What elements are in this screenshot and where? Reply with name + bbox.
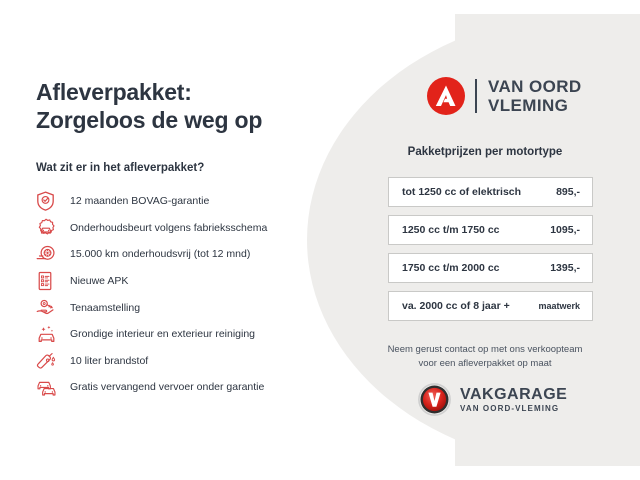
table-row: va. 2000 cc of 8 jaar + maatwerk (388, 291, 593, 321)
price-row-label: 1750 cc t/m 2000 cc (402, 262, 500, 274)
price-row-value: 1095,- (550, 224, 580, 236)
list-item: 15.000 km onderhoudsvrij (tot 12 mnd) (36, 241, 331, 268)
logo-divider (475, 79, 477, 113)
left-column: Afleverpakket: Zorgeloos de weg op Wat z… (0, 0, 330, 480)
list-item-label: Grondige interieur en exterieur reinigin… (62, 328, 255, 340)
price-row-value: 1395,- (550, 262, 580, 274)
list-item: 10 liter brandstof (36, 348, 331, 375)
company-logo: VAN OORD VLEMING (426, 76, 582, 116)
hand-key-icon (36, 297, 62, 319)
list-item: Nieuwe APK (36, 268, 331, 295)
price-row-label: tot 1250 cc of elektrisch (402, 186, 521, 198)
price-row-label: va. 2000 cc of 8 jaar + (402, 300, 510, 312)
feature-list: 12 maanden BOVAG-garantie Onderhoudsbeur… (36, 188, 331, 401)
list-item-label: 15.000 km onderhoudsvrij (tot 12 mnd) (62, 248, 250, 260)
section-subtitle: Wat zit er in het afleverpakket? (36, 162, 204, 174)
list-item: Tenaamstelling (36, 294, 331, 321)
two-cars-icon (36, 376, 62, 398)
shield-check-icon (36, 190, 62, 212)
list-item-label: 12 maanden BOVAG-garantie (62, 195, 209, 207)
list-item: Onderhoudsbeurt volgens fabrieksschema (36, 215, 331, 242)
infographic-canvas: Afleverpakket: Zorgeloos de weg op Wat z… (0, 0, 640, 480)
price-row-value: 895,- (556, 186, 580, 198)
contact-note: Neem gerust contact op met ons verkoopte… (330, 343, 640, 371)
price-row-value: maatwerk (538, 301, 580, 311)
contact-note-line2: voor een afleverpakket op maat (330, 357, 640, 371)
page-title: Afleverpakket: Zorgeloos de weg op (36, 78, 326, 134)
car-service-gear-icon (36, 217, 62, 239)
list-item-label: Gratis vervangend vervoer onder garantie (62, 381, 264, 393)
prices-title: Pakketprijzen per motortype (330, 146, 640, 158)
page-title-line2: Zorgeloos de weg op (36, 106, 326, 134)
table-row: 1250 cc t/m 1750 cc 1095,- (388, 215, 593, 245)
list-item-label: Onderhoudsbeurt volgens fabrieksschema (62, 222, 267, 234)
list-item-label: Tenaamstelling (62, 302, 140, 314)
price-table: tot 1250 cc of elektrisch 895,- 1250 cc … (388, 177, 593, 329)
tire-wheel-icon (36, 243, 62, 265)
contact-note-line1: Neem gerust contact op met ons verkoopte… (330, 343, 640, 357)
vakgarage-title: VAKGARAGE (460, 386, 567, 403)
vakgarage-logo: VAKGARAGE VAN OORD-VLEMING (418, 383, 567, 416)
right-column: VAN OORD VLEMING Pakketprijzen per motor… (330, 0, 640, 480)
fuel-nozzle-icon (36, 350, 62, 372)
vakgarage-subtitle: VAN OORD-VLEMING (460, 403, 567, 414)
list-item: Grondige interieur en exterieur reinigin… (36, 321, 331, 348)
page-title-line1: Afleverpakket: (36, 78, 326, 106)
vakgarage-v-shield-icon (418, 383, 451, 416)
list-item-label: 10 liter brandstof (62, 355, 148, 367)
price-row-label: 1250 cc t/m 1750 cc (402, 224, 500, 236)
vakgarage-wordmark: VAKGARAGE VAN OORD-VLEMING (460, 386, 567, 414)
table-row: 1750 cc t/m 2000 cc 1395,- (388, 253, 593, 283)
list-item: Gratis vervangend vervoer onder garantie (36, 374, 331, 401)
van-oord-a-mark-icon (426, 76, 466, 116)
company-name-line2: VLEMING (488, 96, 582, 115)
table-row: tot 1250 cc of elektrisch 895,- (388, 177, 593, 207)
list-item: 12 maanden BOVAG-garantie (36, 188, 331, 215)
checklist-document-icon (36, 270, 62, 292)
company-name-line1: VAN OORD (488, 77, 582, 96)
list-item-label: Nieuwe APK (62, 275, 128, 287)
company-name: VAN OORD VLEMING (488, 77, 582, 115)
car-wash-sparkle-icon (36, 323, 62, 345)
